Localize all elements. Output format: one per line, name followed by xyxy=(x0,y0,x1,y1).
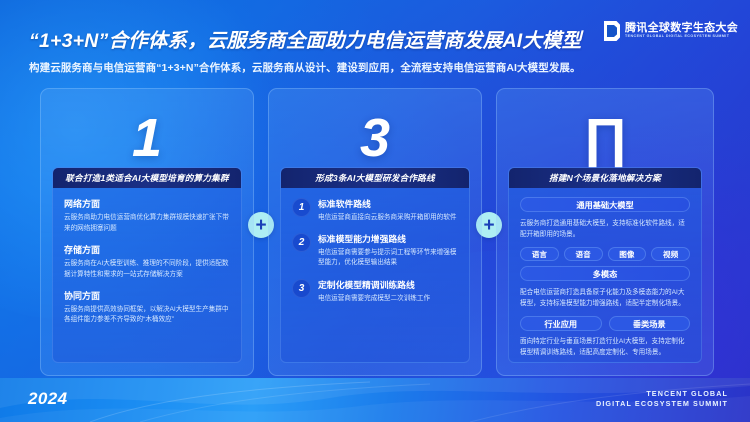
columns-area: + + 1 联合打造1类适合AI大模型培育的算力集群 网络方面 云服务商助力电信… xyxy=(0,88,750,378)
page-subtitle: 构建云服务商与电信运营商“1+3+N”合作体系，云服务商从设计、建设到应用，全流… xyxy=(29,60,581,75)
event-logo: 腾讯全球数字生态大会 TENCENT GLOBAL DIGITAL ECOSYS… xyxy=(604,21,738,41)
list-item: 3 定制化模型精调训练路线 电信运营商需要完成模型二次训练工作 xyxy=(292,278,458,304)
tag-multimodal[interactable]: 多模态 xyxy=(520,266,690,281)
logo-title-en: TENCENT GLOBAL DIGITAL ECOSYSTEM SUMMIT xyxy=(625,35,738,39)
block-heading: 存储方面 xyxy=(64,243,230,256)
list-item: 1 标准软件路线 电信运营商直接向云服务商采购开箱即用的软件 xyxy=(292,197,458,223)
list-item: 网络方面 云服务商助力电信运营商优化算力集群规模快速扩张下带来的网络拥塞问题 xyxy=(64,197,230,234)
block-heading: 协同方面 xyxy=(64,289,230,302)
group-text-3: 面向特定行业与垂直场景打造行业AI大模型，支持定制化模型精调训练路线，适配高度定… xyxy=(520,336,690,358)
footer-brand: TENCENT GLOBAL DIGITAL ECOSYSTEM SUMMIT xyxy=(596,389,728,408)
step-heading: 标准软件路线 xyxy=(318,197,458,210)
block-text: 云服务商助力电信运营商优化算力集群规模快速扩张下带来的网络拥塞问题 xyxy=(64,213,230,234)
step-number-badge: 2 xyxy=(292,233,311,252)
group-text-1: 云服务商打造通用基础大模型，支持标准化软件路线，适配开箱即用的场景。 xyxy=(520,218,690,240)
tag-row-scenarios: 行业应用 垂类场景 xyxy=(520,316,690,331)
step-heading: 标准模型能力增强路线 xyxy=(318,232,458,245)
column-three-heading: 搭建N个场景化落地解决方案 xyxy=(509,168,701,188)
step-text: 电信运营商需要完成模型二次训练工作 xyxy=(318,294,458,305)
page-title: “1+3+N”合作体系，云服务商全面助力电信运营商发展AI大模型 xyxy=(29,24,581,53)
block-text: 云服务商在AI大模型训练、推理的不同阶段，提供适配数据计算特性和需求的一站式存储… xyxy=(64,259,230,280)
column-three-number: ∏ xyxy=(497,111,713,165)
step-text: 电信运营商需要参与提示词工程等环节来增强模型能力，优化模型输出结果 xyxy=(318,248,458,269)
column-two: 3 形成3条AI大模型研发合作路线 1 标准软件路线 电信运营商直接向云服务商采… xyxy=(268,88,482,376)
step-number-badge: 1 xyxy=(292,198,311,217)
tag-language[interactable]: 语言 xyxy=(520,247,559,261)
footer-brand-line1: TENCENT GLOBAL xyxy=(596,389,728,399)
tag-speech[interactable]: 语音 xyxy=(564,247,603,261)
column-one-number: 1 xyxy=(41,111,253,165)
column-three-panel: 搭建N个场景化落地解决方案 通用基础大模型 云服务商打造通用基础大模型，支持标准… xyxy=(508,167,702,363)
column-one-heading: 联合打造1类适合AI大模型培育的算力集群 xyxy=(53,168,241,188)
list-item: 协同方面 云服务商提供高效协同框架，以解决AI大模型生产集群中各组件能力参差不齐… xyxy=(64,289,230,326)
tag-vertical-scenario[interactable]: 垂类场景 xyxy=(609,316,691,331)
step-number-badge: 3 xyxy=(292,279,311,298)
column-one-panel: 联合打造1类适合AI大模型培育的算力集群 网络方面 云服务商助力电信运营商优化算… xyxy=(52,167,242,363)
footer-brand-line2: DIGITAL ECOSYSTEM SUMMIT xyxy=(596,399,728,409)
block-text: 云服务商提供高效协同框架，以解决AI大模型生产集群中各组件能力参差不齐导致的“木… xyxy=(64,305,230,326)
column-two-number: 3 xyxy=(269,111,481,165)
tag-video[interactable]: 视频 xyxy=(651,247,690,261)
tag-row-modalities: 语言 语音 图像 视频 xyxy=(520,247,690,261)
footer-year: 2024 xyxy=(28,389,67,409)
tag-industry-application[interactable]: 行业应用 xyxy=(520,316,602,331)
tag-general-base-model[interactable]: 通用基础大模型 xyxy=(520,197,690,212)
tag-image[interactable]: 图像 xyxy=(608,247,647,261)
list-item: 存储方面 云服务商在AI大模型训练、推理的不同阶段，提供适配数据计算特性和需求的… xyxy=(64,243,230,280)
tencent-summit-mark-icon xyxy=(604,21,620,41)
group-text-2: 配合电信运营商打造具备原子化能力及多模态能力的AI大模型，支持标准模型能力增强路… xyxy=(520,287,690,309)
column-one: 1 联合打造1类适合AI大模型培育的算力集群 网络方面 云服务商助力电信运营商优… xyxy=(40,88,254,376)
column-two-panel: 形成3条AI大模型研发合作路线 1 标准软件路线 电信运营商直接向云服务商采购开… xyxy=(280,167,470,363)
block-heading: 网络方面 xyxy=(64,197,230,210)
slide-header: “1+3+N”合作体系，云服务商全面助力电信运营商发展AI大模型 构建云服务商与… xyxy=(0,0,750,86)
column-two-heading: 形成3条AI大模型研发合作路线 xyxy=(281,168,469,188)
slide-footer: 2024 TENCENT GLOBAL DIGITAL ECOSYSTEM SU… xyxy=(0,378,750,422)
slide-canvas: “1+3+N”合作体系，云服务商全面助力电信运营商发展AI大模型 构建云服务商与… xyxy=(0,0,750,422)
step-text: 电信运营商直接向云服务商采购开箱即用的软件 xyxy=(318,213,458,224)
step-heading: 定制化模型精调训练路线 xyxy=(318,278,458,291)
column-three: ∏ 搭建N个场景化落地解决方案 通用基础大模型 云服务商打造通用基础大模型，支持… xyxy=(496,88,714,376)
list-item: 2 标准模型能力增强路线 电信运营商需要参与提示词工程等环节来增强模型能力，优化… xyxy=(292,232,458,269)
